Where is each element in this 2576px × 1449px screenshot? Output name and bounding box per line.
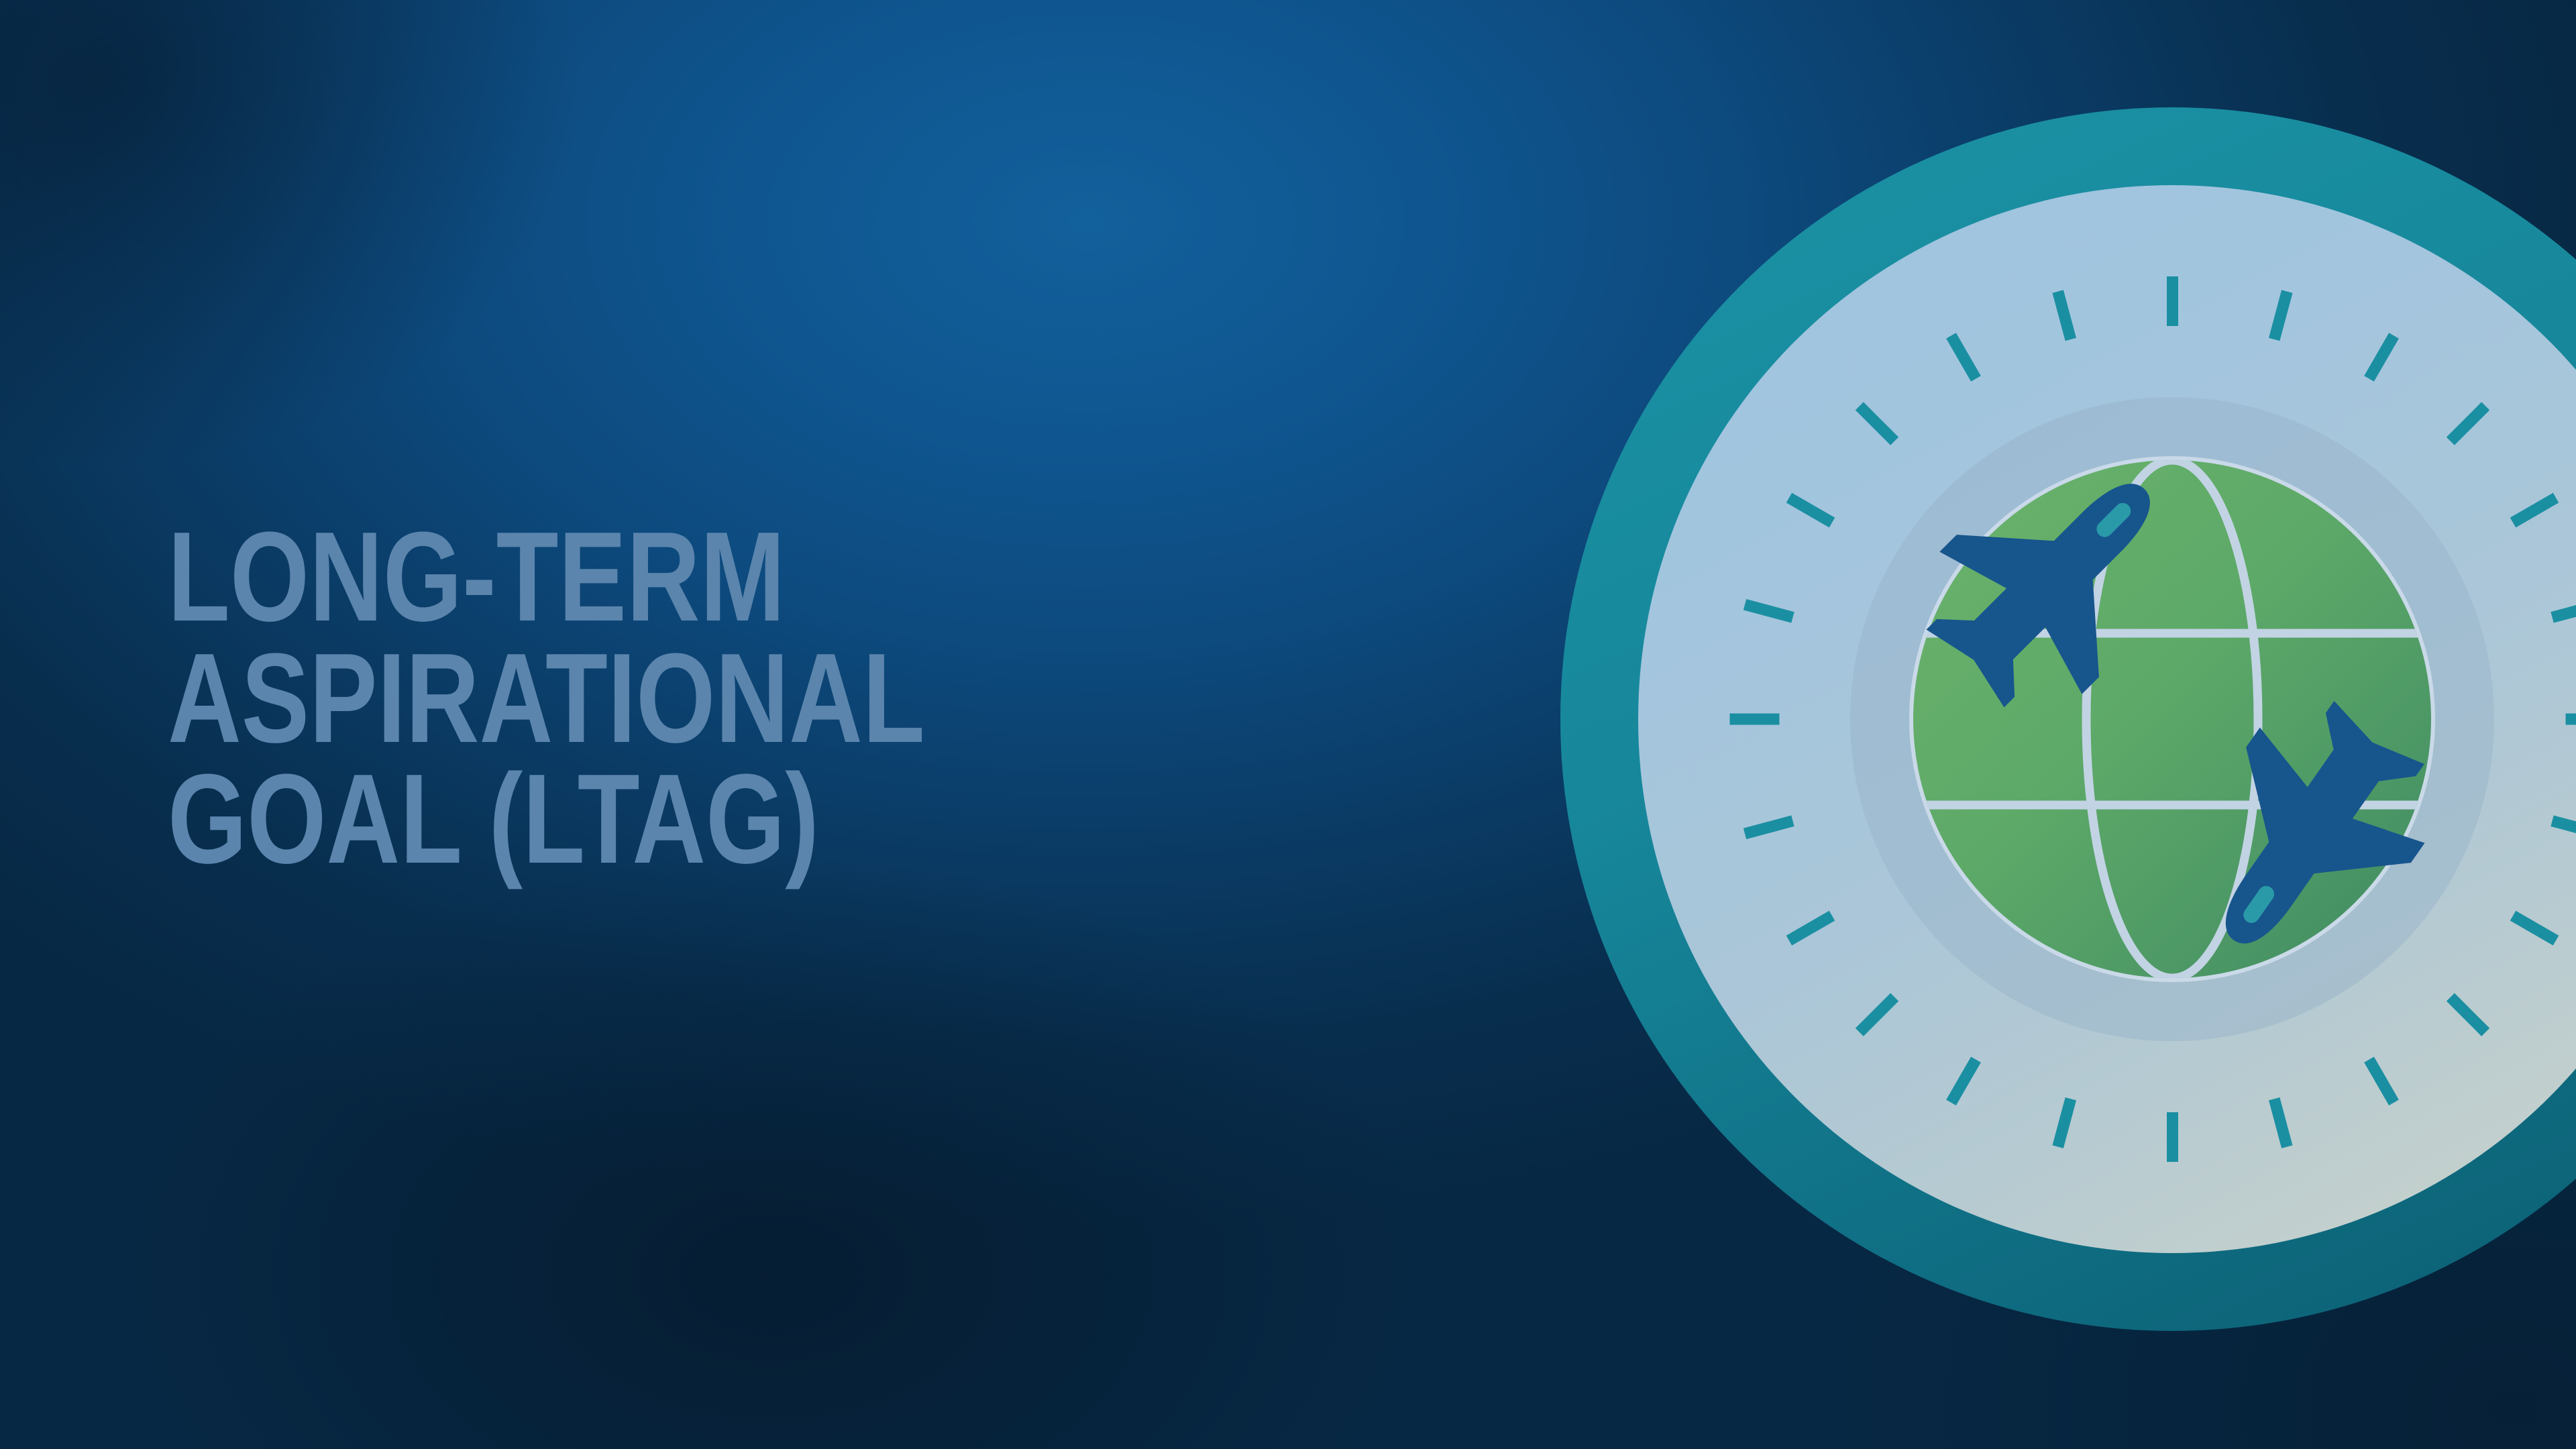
airplane-lower-right (2151, 675, 2462, 998)
slide-canvas: LONG-TERM ASPIRATIONAL GOAL (LTAG) (0, 0, 2576, 1449)
page-title-line-3: GOAL (LTAG) (168, 759, 1268, 880)
page-title: LONG-TERM ASPIRATIONAL GOAL (LTAG) (168, 517, 1268, 880)
page-title-line-2: ASPIRATIONAL (168, 638, 1268, 759)
airplanes-layer (1560, 107, 2576, 1331)
page-title-line-1: LONG-TERM (168, 517, 1268, 638)
airplane-body (2151, 675, 2462, 998)
compass-globe-emblem (1560, 107, 2576, 1331)
airplane-upper-left (1894, 418, 2215, 739)
airplane-body (1894, 418, 2215, 739)
